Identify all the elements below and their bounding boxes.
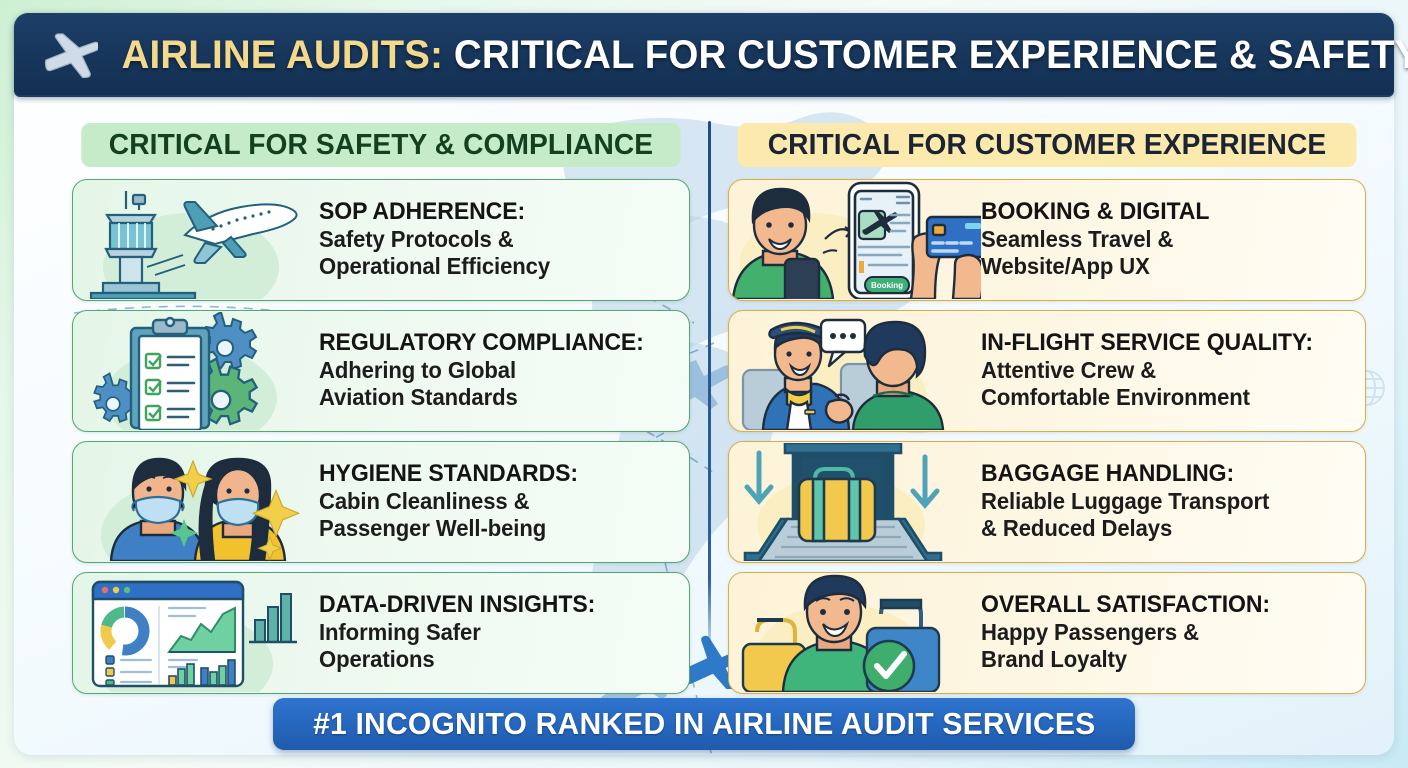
right-column-heading: CRITICAL FOR CUSTOMER EXPERIENCE [738, 123, 1357, 167]
card-subtitle-line1: Informing Safer [319, 619, 665, 647]
svg-text:Booking: Booking [871, 281, 903, 290]
card-subtitle-line1: Reliable Luggage Transport [981, 488, 1340, 516]
card-text: OVERALL SATISFACTION: Happy Passengers &… [981, 592, 1365, 674]
card-text: SOP ADHERENCE: Safety Protocols & Operat… [319, 199, 689, 281]
card-hygiene-standards[interactable]: HYGIENE STANDARDS: Cabin Cleanliness & P… [72, 441, 690, 563]
card-subtitle-line2: Operational Efficiency [319, 253, 665, 281]
card-subtitle-line2: Website/App UX [981, 253, 1340, 281]
card-text: BOOKING & DIGITAL Seamless Travel & Webs… [981, 199, 1365, 281]
content-columns: CRITICAL FOR SAFETY & COMPLIANCE [28, 113, 1394, 703]
card-booking-digital[interactable]: Booking [728, 179, 1366, 301]
page-header: AIRLINE AUDITS: CRITICAL FOR CUSTOMER EX… [14, 13, 1394, 97]
footer-text: #1 INCOGNITO RANKED IN AIRLINE AUDIT SER… [313, 706, 1095, 742]
card-subtitle-line2: Operations [319, 646, 665, 674]
card-baggage-handling[interactable]: BAGGAGE HANDLING: Reliable Luggage Trans… [728, 441, 1366, 563]
card-overall-satisfaction[interactable]: OVERALL SATISFACTION: Happy Passengers &… [728, 572, 1366, 694]
clipboard-checklist-gears-icon [73, 312, 319, 430]
card-title: HYGIENE STANDARDS: [319, 461, 665, 488]
card-subtitle-line1: Happy Passengers & [981, 619, 1340, 647]
left-column: CRITICAL FOR SAFETY & COMPLIANCE [28, 113, 708, 703]
card-title: OVERALL SATISFACTION: [981, 592, 1340, 619]
card-subtitle-line1: Adhering to Global [319, 357, 665, 385]
card-subtitle-line2: & Reduced Delays [981, 515, 1340, 543]
baggage-conveyor-icon [729, 443, 981, 561]
page-title-accent: AIRLINE AUDITS: [122, 33, 443, 77]
masked-passengers-sparkle-icon [73, 443, 319, 561]
card-regulatory-compliance[interactable]: REGULATORY COMPLIANCE: Adhering to Globa… [72, 310, 690, 432]
card-data-driven-insights[interactable]: DATA-DRIVEN INSIGHTS: Informing Safer Op… [72, 572, 690, 694]
analytics-dashboard-icon [73, 574, 319, 692]
flight-attendant-passenger-icon [729, 312, 981, 430]
card-title: SOP ADHERENCE: [319, 199, 665, 226]
card-inflight-service-quality[interactable]: IN-FLIGHT SERVICE QUALITY: Attentive Cre… [728, 310, 1366, 432]
right-column: CRITICAL FOR CUSTOMER EXPERIENCE [708, 113, 1394, 703]
card-subtitle-line2: Passenger Well-being [319, 515, 665, 543]
footer-banner: #1 INCOGNITO RANKED IN AIRLINE AUDIT SER… [273, 698, 1135, 750]
left-card-list: SOP ADHERENCE: Safety Protocols & Operat… [72, 179, 690, 694]
card-subtitle-line1: Safety Protocols & [319, 226, 665, 254]
card-title: IN-FLIGHT SERVICE QUALITY: [981, 330, 1340, 357]
card-text: IN-FLIGHT SERVICE QUALITY: Attentive Cre… [981, 330, 1365, 412]
card-sop-adherence[interactable]: SOP ADHERENCE: Safety Protocols & Operat… [72, 179, 690, 301]
card-subtitle-line1: Cabin Cleanliness & [319, 488, 665, 516]
right-card-list: Booking [728, 179, 1366, 694]
card-text: REGULATORY COMPLIANCE: Adhering to Globa… [319, 330, 689, 412]
card-title: REGULATORY COMPLIANCE: [319, 330, 665, 357]
infographic-frame: CRITICAL FOR SAFETY & COMPLIANCE [14, 13, 1394, 755]
left-column-heading: CRITICAL FOR SAFETY & COMPLIANCE [81, 123, 680, 167]
card-title: BOOKING & DIGITAL [981, 199, 1340, 226]
card-text: BAGGAGE HANDLING: Reliable Luggage Trans… [981, 461, 1365, 543]
page-title-rest: CRITICAL FOR CUSTOMER EXPERIENCE & SAFET… [454, 33, 1408, 77]
card-subtitle-line2: Brand Loyalty [981, 646, 1340, 674]
happy-passenger-luggage-check-icon [729, 574, 981, 692]
mobile-booking-creditcard-icon: Booking [729, 181, 981, 299]
card-subtitle-line1: Attentive Crew & [981, 357, 1340, 385]
page-title: AIRLINE AUDITS: CRITICAL FOR CUSTOMER EX… [112, 35, 1408, 75]
card-subtitle-line2: Aviation Standards [319, 384, 665, 412]
card-title: BAGGAGE HANDLING: [981, 461, 1340, 488]
card-subtitle-line2: Comfortable Environment [981, 384, 1340, 412]
card-title: DATA-DRIVEN INSIGHTS: [319, 592, 665, 619]
airplane-icon [42, 32, 98, 78]
card-subtitle-line1: Seamless Travel & [981, 226, 1340, 254]
card-text: DATA-DRIVEN INSIGHTS: Informing Safer Op… [319, 592, 689, 674]
card-text: HYGIENE STANDARDS: Cabin Cleanliness & P… [319, 461, 689, 543]
control-tower-airplane-icon [73, 181, 319, 299]
